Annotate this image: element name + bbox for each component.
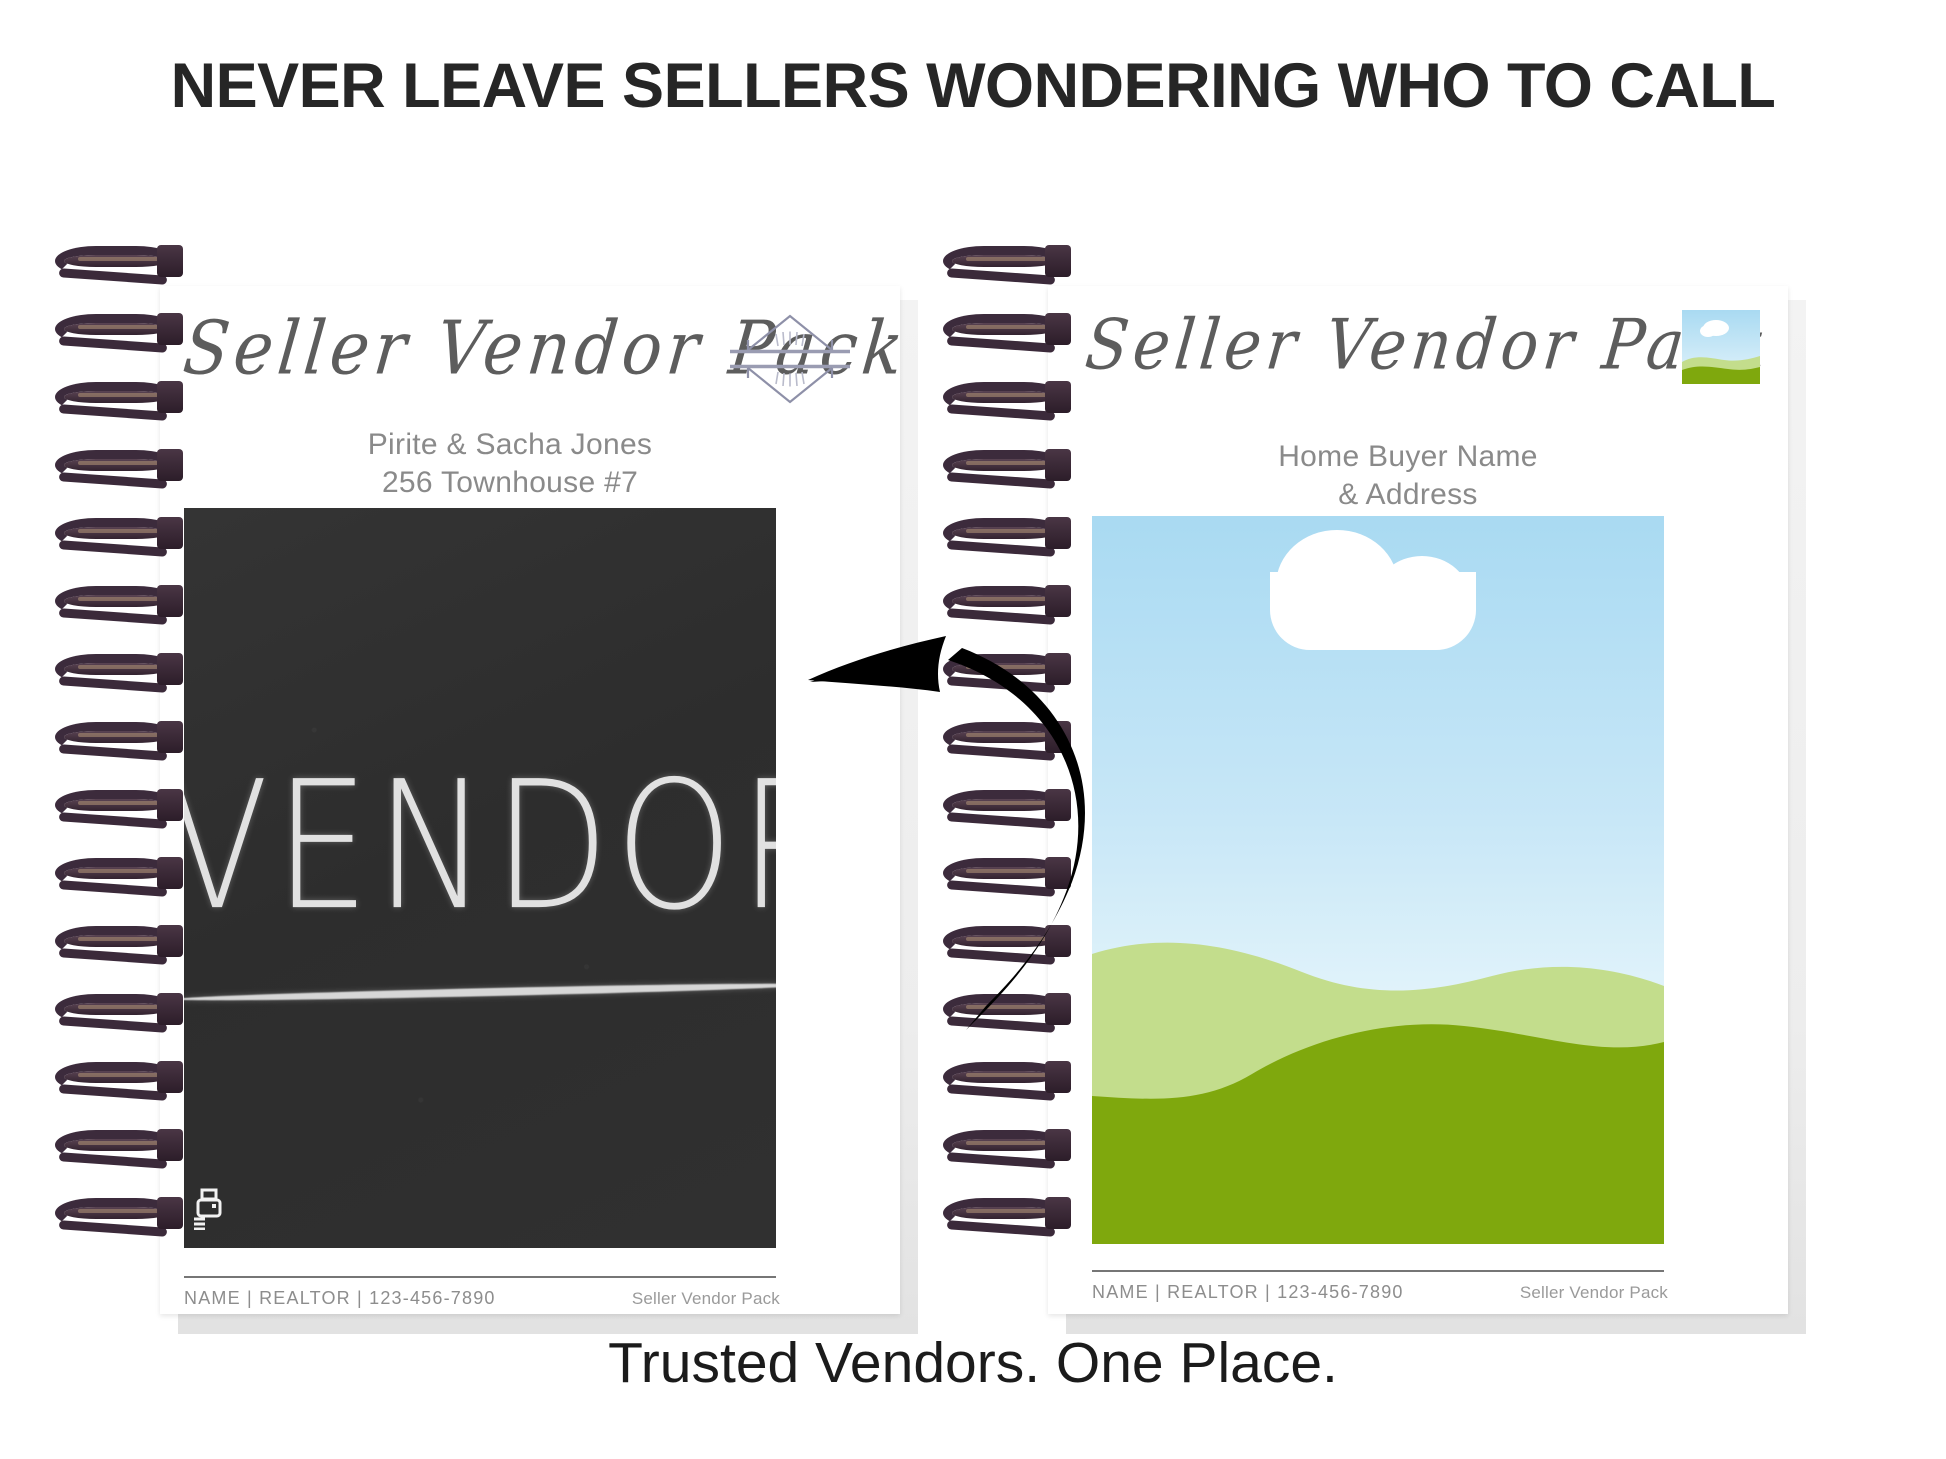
house-diamond-emblem-icon — [726, 294, 854, 406]
chalk-underline — [184, 981, 776, 1004]
page-footer-left: NAME | REALTOR | 123-456-7890 Seller Ven… — [184, 1288, 780, 1309]
footer-divider-left — [184, 1276, 776, 1278]
script-title-right: Seller Vendor Pack — [1082, 304, 1776, 386]
subtitle-line-2-left: 256 Townhouse #7 — [160, 464, 860, 502]
hero-image-landscape — [1092, 516, 1664, 1244]
notebook-mockup-right: Seller Vendor Pack — [1048, 286, 1814, 1326]
footer-brand-left: Seller Vendor Pack — [632, 1289, 780, 1309]
subtitle-block-right: Home Buyer Name & Address — [1048, 438, 1768, 515]
tagline: Trusted Vendors. One Place. — [0, 1330, 1946, 1396]
subtitle-line-1-left: Pirite & Sacha Jones — [160, 426, 860, 464]
page-header-left: Seller Vendor Pack — [160, 286, 900, 508]
chalkboard-surface: VENDOR — [184, 508, 776, 1248]
subtitle-line-2-right: & Address — [1048, 476, 1768, 514]
landscape-illustration — [1092, 516, 1664, 1244]
page-header-right: Seller Vendor Pack — [1048, 286, 1788, 508]
footer-divider-right — [1092, 1270, 1664, 1272]
cloud-shape — [1270, 572, 1476, 650]
page-footer-right: NAME | REALTOR | 123-456-7890 Seller Ven… — [1092, 1282, 1668, 1303]
notebook-mockup-left: Seller Vendor Pack — [160, 286, 926, 1326]
footer-realtor-info-left: NAME | REALTOR | 123-456-7890 — [184, 1288, 496, 1309]
hero-image-chalkboard: VENDOR — [184, 508, 776, 1248]
footer-brand-right: Seller Vendor Pack — [1520, 1283, 1668, 1303]
notebook-page-right: Seller Vendor Pack — [1048, 286, 1788, 1314]
footer-realtor-info-right: NAME | REALTOR | 123-456-7890 — [1092, 1282, 1404, 1303]
chalk-word-vendor: VENDOR — [184, 744, 776, 949]
page-title: NEVER LEAVE SELLERS WONDERING WHO TO CAL… — [120, 48, 1826, 125]
landscape-thumbnail-icon — [1682, 310, 1760, 384]
notebook-page-left: Seller Vendor Pack — [160, 286, 900, 1314]
hills-shape — [1092, 914, 1664, 1244]
printer-icon — [192, 1188, 230, 1230]
subtitle-line-1-right: Home Buyer Name — [1048, 438, 1768, 476]
subtitle-block-left: Pirite & Sacha Jones 256 Townhouse #7 — [160, 426, 860, 503]
